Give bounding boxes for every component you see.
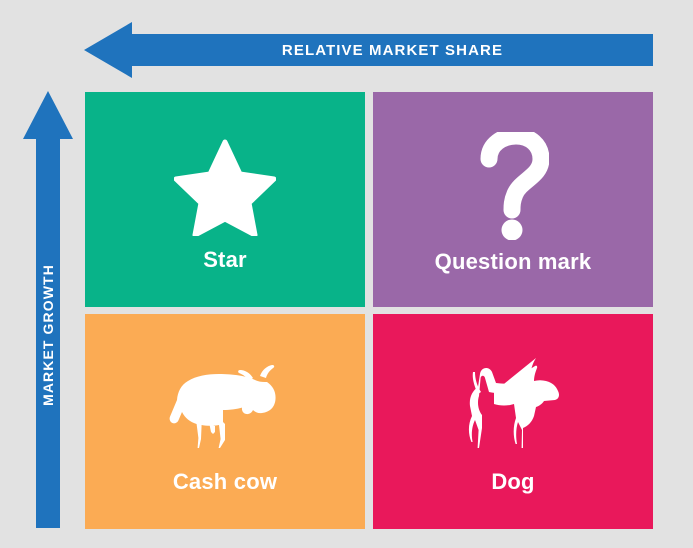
star-icon: [174, 127, 276, 245]
question-mark-icon: [477, 125, 549, 247]
quadrant-question-mark-label: Question mark: [435, 249, 592, 275]
quadrant-star-label: Star: [203, 247, 247, 273]
left-arrow-icon: [84, 22, 653, 78]
market-growth-axis: [20, 91, 76, 528]
dog-icon: [458, 349, 568, 467]
quadrant-grid: Star Question mark: [85, 92, 653, 529]
quadrant-question-mark[interactable]: Question mark: [373, 92, 653, 307]
up-arrow-icon: [20, 91, 76, 528]
quadrant-star[interactable]: Star: [85, 92, 365, 307]
relative-market-share-axis: [84, 22, 653, 78]
cow-icon: [163, 349, 287, 467]
quadrant-cash-cow[interactable]: Cash cow: [85, 314, 365, 529]
quadrant-cash-cow-label: Cash cow: [173, 469, 277, 495]
quadrant-dog-label: Dog: [491, 469, 534, 495]
bcg-matrix-diagram: RELATIVE MARKET SHARE MARKET GROWTH Star: [0, 0, 693, 548]
quadrant-dog[interactable]: Dog: [373, 314, 653, 529]
